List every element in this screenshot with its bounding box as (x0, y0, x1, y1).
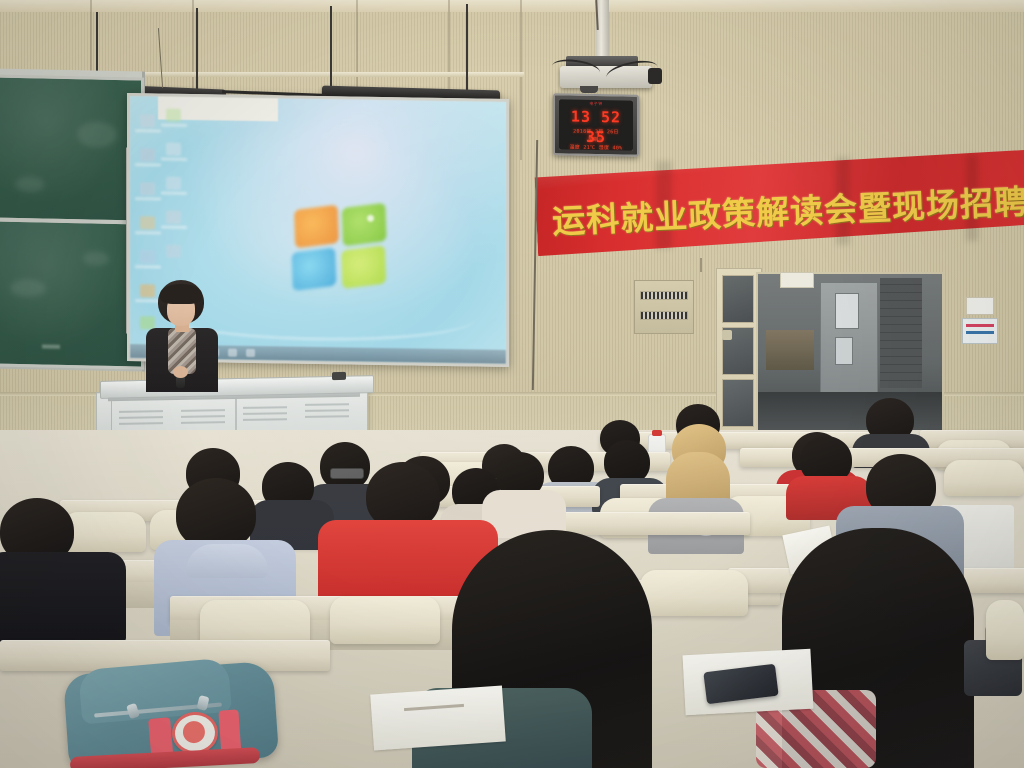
projector-mount-pole (596, 0, 609, 62)
desktop-icon-folder[interactable] (166, 211, 181, 224)
sign-line-blue (966, 331, 994, 334)
projector-cable-coil (648, 68, 662, 84)
seat (62, 512, 146, 552)
panel-breaker-row (640, 311, 688, 320)
lamp-rod (466, 4, 468, 90)
taskbar-icon-folder[interactable] (246, 349, 255, 357)
event-banner: 运科就业政策解读会暨现场招聘会 (536, 155, 1024, 259)
clock-weekday-row: 星期一 (559, 135, 633, 143)
wall-fixture (722, 330, 732, 340)
kanken-backpack (66, 660, 282, 768)
person-torso (0, 552, 126, 642)
window-pane (722, 379, 754, 427)
hoodie-hood (186, 544, 268, 578)
seat (330, 596, 440, 644)
corridor-view (756, 272, 944, 436)
clock-time-display: 13 52 35 (559, 106, 633, 127)
electrical-panel (634, 280, 694, 334)
banner-tie (700, 258, 702, 272)
taskbar-icon-media[interactable] (228, 349, 237, 357)
handout-paper (370, 685, 506, 750)
door-window-upper (835, 293, 859, 329)
desktop-icon-computer[interactable] (140, 114, 155, 127)
presenter-fringe (160, 284, 202, 304)
wall-seam (356, 0, 358, 92)
door-plate-sign (780, 272, 814, 288)
projector-lens (580, 86, 598, 93)
wall-seam (520, 0, 522, 160)
wall-notice-sign (962, 318, 998, 344)
lamp-rod (196, 8, 198, 90)
chalkboard-panel-upper (0, 74, 144, 223)
person-head (320, 442, 370, 490)
desktop-icon-utility[interactable] (166, 245, 181, 258)
lecture-hall-photo: 电子钟 13 52 35 2018年 3月 26日 星期一 温度 21℃ 湿度 … (0, 0, 1024, 768)
lectern-latch[interactable] (332, 372, 346, 380)
corridor-brick-wall (880, 278, 922, 388)
chalkboard-panel-lower (0, 218, 144, 369)
clock-temperature-row: 温度 21℃ 湿度 40% (559, 143, 633, 150)
desktop-icon-browser[interactable] (140, 250, 155, 263)
window-pane (722, 275, 754, 323)
corridor-door (820, 282, 878, 396)
desktop-icon-recycle-bin[interactable] (140, 148, 155, 161)
eyeglasses (330, 468, 364, 479)
chalkboard-frame (0, 68, 145, 371)
panel-breaker-row (640, 291, 688, 300)
door-window-lower (835, 337, 853, 365)
lamp-rod (330, 6, 332, 90)
seat (944, 460, 1024, 496)
sign-line-red (966, 324, 994, 327)
desktop-icon-network[interactable] (140, 182, 155, 195)
wall-notice-blank (966, 297, 994, 315)
desktop-icon-documents[interactable] (140, 216, 155, 229)
desktop-icon-pdf-reader[interactable] (166, 177, 181, 190)
wall-seam (448, 0, 450, 92)
wall-seam (192, 0, 194, 92)
desktop-icon-office-word[interactable] (166, 143, 181, 156)
presenter-hand (173, 366, 188, 378)
clock-date-row: 2018年 3月 26日 (559, 127, 633, 135)
windows-logo (294, 198, 392, 294)
seat (986, 600, 1024, 660)
corridor-furniture (766, 330, 814, 370)
seat (640, 570, 748, 616)
ceiling-strip (0, 0, 1024, 12)
desktop-icon-office-excel[interactable] (166, 109, 181, 122)
presenter (140, 280, 226, 392)
corridor-floor (758, 392, 942, 434)
digital-wall-clock: 电子钟 13 52 35 2018年 3月 26日 星期一 温度 21℃ 湿度 … (553, 93, 639, 157)
